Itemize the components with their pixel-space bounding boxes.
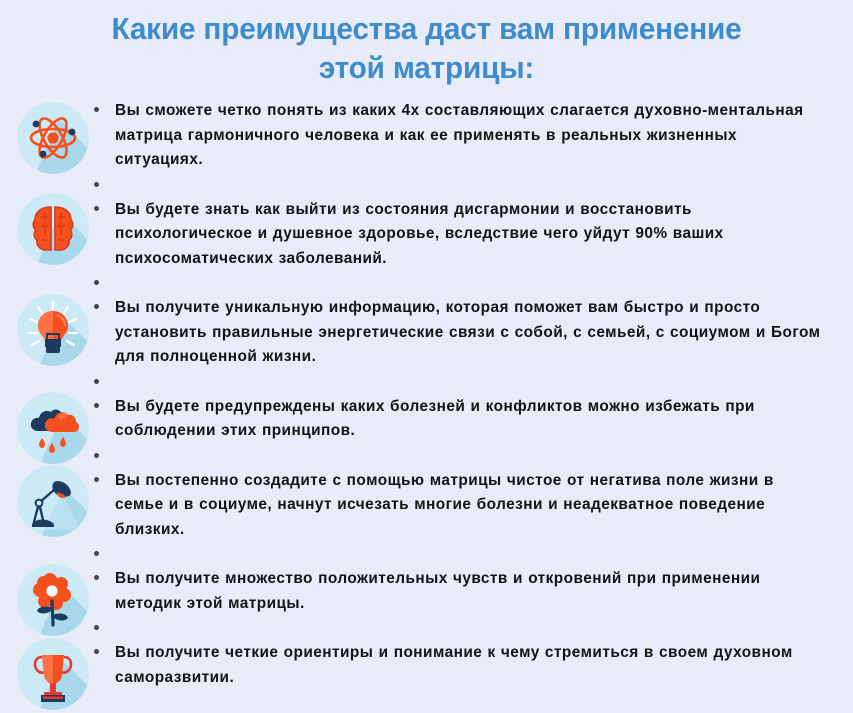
bullet-text-row: Вы получите четкие ориентиры и понимание… [0,641,853,690]
list-item: Вы постепенно создадите с помощью матриц… [0,469,853,543]
list-separator [0,542,853,567]
list-item-text: Вы сможете четко понять из каких 4х сост… [115,99,823,173]
bullet-text-row: Вы будете предупреждены каких болезней и… [0,395,853,444]
list-separator [0,444,853,469]
list-separator [0,173,853,198]
page-title: Какие преимущества даст вам применение э… [17,0,836,87]
bullet-text-row: Вы постепенно создадите с помощью матриц… [0,469,853,543]
list-item: Вы будете знать как выйти из состояния д… [0,198,853,272]
list-item: Вы сможете четко понять из каких 4х сост… [0,99,853,173]
list-item-text: Вы будете предупреждены каких болезней и… [115,395,823,444]
list-item-text: Вы постепенно создадите с помощью матриц… [115,469,823,543]
list-item-text: Вы получите множество положительных чувс… [115,567,823,616]
list-item: Вы будете предупреждены каких болезней и… [0,395,853,444]
list-separator [0,370,853,395]
list-item-text: Вы получите уникальную информацию, котор… [115,296,823,370]
benefits-list: Вы сможете четко понять из каких 4х сост… [0,99,853,690]
bullet-marker [94,575,99,580]
bullet-text-row: Вы будете знать как выйти из состояния д… [0,198,853,272]
bullet-marker [94,379,99,384]
bullet-marker [94,551,99,556]
list-item: Вы получите множество положительных чувс… [0,567,853,616]
bullet-marker [94,304,99,309]
list-item-text: Вы получите четкие ориентиры и понимание… [115,641,823,690]
bullet-marker [94,206,99,211]
list-item: Вы получите уникальную информацию, котор… [0,296,853,370]
bullet-text-row: Вы получите уникальную информацию, котор… [0,296,853,370]
list-item-text: Вы будете знать как выйти из состояния д… [115,198,823,272]
list-separator [0,271,853,296]
bullet-text-row: Вы получите множество положительных чувс… [0,567,853,616]
bullet-marker [94,107,99,112]
bullet-marker [94,280,99,285]
bullet-marker [94,403,99,408]
bullet-marker [94,477,99,482]
list-separator [0,616,853,641]
list-item: Вы получите четкие ориентиры и понимание… [0,641,853,690]
bullet-marker [94,182,99,187]
bullet-text-row: Вы сможете четко понять из каких 4х сост… [0,99,853,173]
bullet-marker [94,649,99,654]
bullet-marker [94,625,99,630]
slide-root: Какие преимущества даст вам применение э… [0,0,853,709]
bullet-marker [94,453,99,458]
